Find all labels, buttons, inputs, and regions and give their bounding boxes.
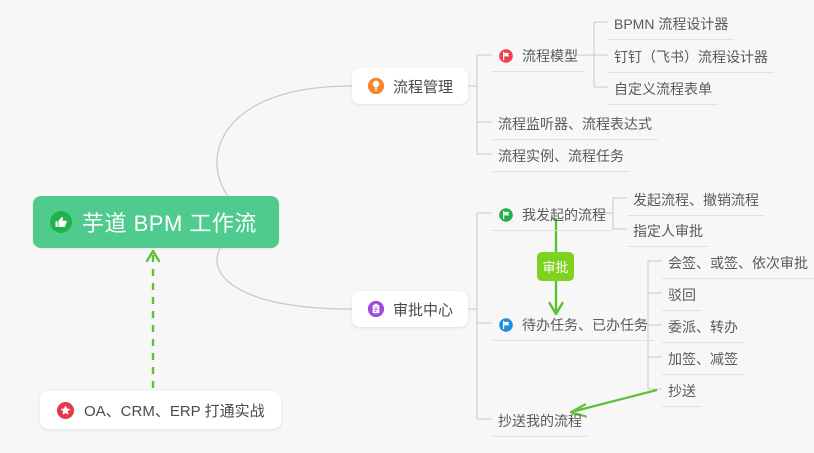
sub-label-cc-to-me-process: 抄送我的流程	[498, 411, 582, 431]
sub-node-delegate-transfer[interactable]: 委派、转办	[662, 314, 744, 343]
root-label: 芋道 BPM 工作流	[82, 206, 257, 238]
sub-node-designated-approver[interactable]: 指定人审批	[627, 218, 709, 247]
sub-label-countersign-orsign-sequential: 会签、或签、依次审批	[668, 253, 808, 273]
sub-node-process-instance-task[interactable]: 流程实例、流程任务	[492, 143, 630, 172]
sub-node-add-remove-sign[interactable]: 加签、减签	[662, 346, 744, 375]
sub-label-process-model: 流程模型	[522, 46, 578, 66]
branch-node-approval-center[interactable]: 审批中心	[352, 291, 468, 327]
approval-tag[interactable]: 审批	[537, 252, 574, 281]
flag-icon	[498, 317, 514, 333]
sub-node-todo-done-tasks[interactable]: 待办任务、已办任务	[492, 312, 654, 341]
sub-node-bpmn-designer[interactable]: BPMN 流程设计器	[608, 11, 734, 40]
sub-label-reject: 驳回	[668, 285, 696, 305]
sub-label-cc: 抄送	[668, 381, 696, 401]
flag-icon	[498, 48, 514, 64]
star-icon	[56, 401, 75, 420]
sub-label-dingtalk-feishu-designer: 钉钉（飞书）流程设计器	[614, 47, 768, 67]
sub-node-start-cancel-process[interactable]: 发起流程、撤销流程	[627, 187, 765, 216]
flag-icon	[498, 207, 514, 223]
callout-node-oa-crm-erp[interactable]: OA、CRM、ERP 打通实战	[40, 391, 281, 429]
sub-node-my-initiated-process[interactable]: 我发起的流程	[492, 202, 612, 231]
sub-label-process-listener-expression: 流程监听器、流程表达式	[498, 114, 652, 134]
sub-node-custom-process-form[interactable]: 自定义流程表单	[608, 76, 718, 105]
branch-label-process-management: 流程管理	[393, 76, 453, 97]
sub-node-process-model[interactable]: 流程模型	[492, 43, 584, 72]
sub-label-designated-approver: 指定人审批	[633, 221, 703, 241]
sub-node-dingtalk-feishu-designer[interactable]: 钉钉（飞书）流程设计器	[608, 44, 774, 73]
sub-label-custom-process-form: 自定义流程表单	[614, 79, 712, 99]
sub-node-cc-to-me-process[interactable]: 抄送我的流程	[492, 408, 588, 437]
lightbulb-icon	[367, 77, 385, 95]
sub-label-add-remove-sign: 加签、减签	[668, 349, 738, 369]
sub-label-my-initiated-process: 我发起的流程	[522, 205, 606, 225]
branch-label-approval-center: 审批中心	[393, 299, 453, 320]
sub-label-bpmn-designer: BPMN 流程设计器	[614, 14, 728, 34]
sub-node-process-listener-expression[interactable]: 流程监听器、流程表达式	[492, 111, 658, 140]
sub-label-start-cancel-process: 发起流程、撤销流程	[633, 190, 759, 210]
sub-node-countersign-orsign-sequential[interactable]: 会签、或签、依次审批	[662, 250, 814, 279]
thumbs-up-icon	[49, 210, 73, 234]
approval-tag-label: 审批	[542, 257, 568, 276]
clipboard-icon	[367, 300, 385, 318]
sub-label-process-instance-task: 流程实例、流程任务	[498, 146, 624, 166]
sub-label-delegate-transfer: 委派、转办	[668, 317, 738, 337]
sub-label-todo-done-tasks: 待办任务、已办任务	[522, 315, 648, 335]
mindmap-canvas: 芋道 BPM 工作流 流程管理 流程模型 BPMN 流程设计器 钉钉（飞书）流程	[0, 0, 814, 453]
sub-node-cc[interactable]: 抄送	[662, 378, 702, 407]
root-node[interactable]: 芋道 BPM 工作流	[33, 196, 279, 248]
branch-node-process-management[interactable]: 流程管理	[352, 68, 468, 104]
callout-label: OA、CRM、ERP 打通实战	[84, 400, 265, 421]
sub-node-reject[interactable]: 驳回	[662, 282, 702, 311]
